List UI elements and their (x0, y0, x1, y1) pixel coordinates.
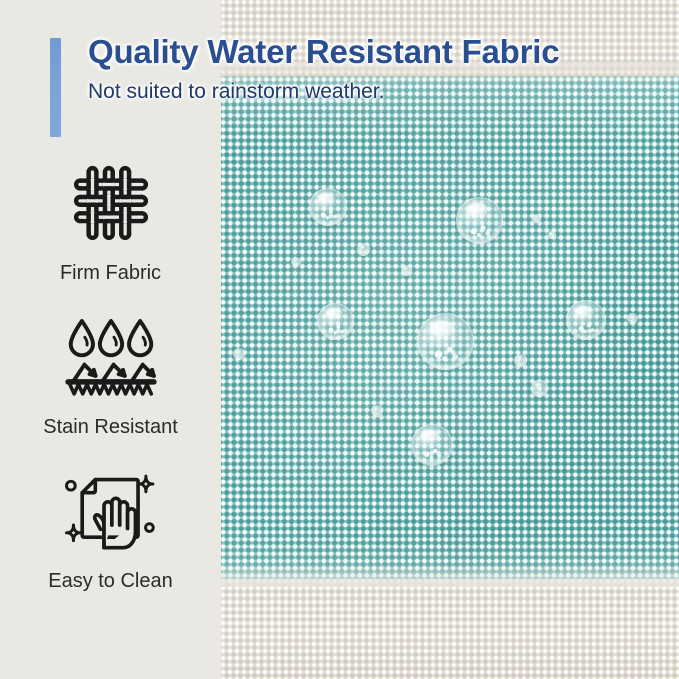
water-droplet (514, 354, 527, 367)
page-subtitle: Not suited to rainstorm weather. (88, 79, 650, 104)
water-droplet (548, 231, 556, 239)
water-droplet (401, 265, 412, 276)
accent-bar (50, 38, 61, 137)
header: Quality Water Resistant Fabric Not suite… (50, 34, 650, 104)
fabric-bottom-feather (221, 563, 679, 587)
water-droplet (566, 300, 606, 340)
water-droplet (357, 243, 370, 256)
water-droplet (627, 313, 638, 324)
page-title: Quality Water Resistant Fabric (88, 34, 650, 71)
feature-label: Stain Resistant (0, 415, 221, 439)
water-droplet (411, 424, 453, 466)
water-droplet (317, 303, 354, 340)
water-droplet (233, 348, 245, 360)
feature-item-stain-resistant: Stain Resistant (0, 309, 221, 439)
hand-wiping-cloth-icon (0, 463, 221, 559)
feature-item-firm-fabric: Firm Fabric (0, 155, 221, 285)
woven-fabric-icon (0, 155, 221, 251)
water-repellent-droplets-icon (0, 309, 221, 405)
water-droplet (456, 197, 503, 244)
feature-label: Easy to Clean (0, 569, 221, 593)
feature-item-easy-to-clean: Easy to Clean (0, 463, 221, 593)
water-droplet (531, 380, 548, 397)
product-infographic: Quality Water Resistant Fabric Not suite… (0, 0, 679, 679)
fabric-bottom-selvedge-band (221, 579, 679, 679)
feature-list: Firm Fabric (0, 155, 221, 617)
water-droplet (532, 214, 541, 223)
water-droplet (309, 188, 347, 226)
water-droplet (291, 257, 301, 267)
water-droplet (371, 405, 383, 417)
feature-label: Firm Fabric (0, 261, 221, 285)
water-droplet (417, 313, 474, 370)
